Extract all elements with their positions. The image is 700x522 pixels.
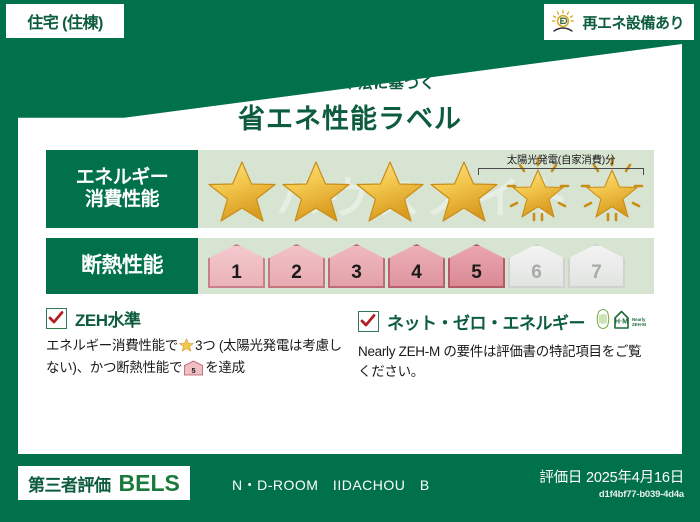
evaluation-date: 評価日 2025年4月16日 — [539, 466, 684, 487]
insulation-grade-badge: 6 — [508, 244, 565, 288]
label-heading: 建築物省エネ法に基づく 省エネ性能ラベル — [34, 72, 666, 136]
note-net-zero-energy: ネット・ゼロ・エネルギー — [358, 306, 654, 383]
insulation-grade-number: 3 — [351, 263, 362, 282]
note-nze-body: Nearly ZEH-M の要件は評価書の特記項目をご覧ください。 — [358, 342, 654, 383]
note-zeh-title: ZEH水準 — [75, 306, 141, 331]
insulation-performance-row: 断熱性能 1 2 3 4 — [46, 238, 654, 294]
energy-performance-label: エネルギー 消費性能 — [46, 150, 198, 228]
insulation-grade-badge: 2 — [268, 244, 325, 288]
label-footer: 第三者評価 BELS N・D-ROOM IIDACHOU B 評価日 2025年… — [0, 454, 700, 522]
insulation-grade-badge: 7 — [568, 244, 625, 288]
star-icon — [206, 154, 278, 224]
insulation-grade-number: 2 — [291, 263, 302, 282]
solar-bonus-annotation: 太陽光発電(自家消費)分 — [478, 152, 644, 175]
note-zeh-body-part1: エネルギー消費性能で — [46, 338, 178, 353]
insulation-grade-badge: 1 — [208, 244, 265, 288]
insulation-grade-scale: 1 2 3 4 5 — [198, 244, 625, 288]
note-zeh-body: エネルギー消費性能で 3つ (太陽光発電は考慮しない)、かつ断熱性能で 5 を達… — [46, 336, 342, 383]
star-icon — [179, 337, 194, 358]
heading-title: 省エネ性能ラベル — [34, 97, 666, 136]
insulation-grade-number: 1 — [231, 263, 242, 282]
solar-sun-icon — [550, 9, 576, 35]
energy-performance-row: エネルギー 消費性能 ハウスメイト 太陽光発電(自家消費)分 — [46, 150, 654, 228]
insulation-grade-number: 5 — [471, 263, 482, 282]
star-icon — [280, 154, 352, 224]
checkbox-checked-icon — [46, 308, 67, 329]
solar-annotation-label: 太陽光発電(自家消費)分 — [478, 152, 644, 167]
insulation-performance-label: 断熱性能 — [46, 238, 198, 294]
svg-text:5: 5 — [192, 366, 196, 375]
renewable-badge-label: 再エネ設備あり — [582, 12, 684, 33]
insulation-grade-badge: 5 — [448, 244, 505, 288]
note-zeh-standard: ZEH水準 エネルギー消費性能で 3つ (太陽光発電は考慮しない)、かつ断熱性能… — [46, 306, 342, 383]
insulation-grade-number: 6 — [531, 263, 542, 282]
label-card: 建築物省エネ法に基づく 省エネ性能ラベル エネルギー 消費性能 ハウスメイト 太… — [18, 44, 682, 454]
bels-chip-jp-label: 第三者評価 — [28, 471, 111, 496]
bels-certification-chip: 第三者評価 BELS — [18, 466, 190, 500]
evaluation-info: 評価日 2025年4月16日 d1f4bf77-b039-4d4a — [539, 466, 684, 500]
insulation-grade-badge: 3 — [328, 244, 385, 288]
insulation-grade-inline-badge: 5 — [184, 360, 203, 382]
insulation-performance-body: 1 2 3 4 5 — [198, 238, 654, 294]
energy-label-line2: 消費性能 — [85, 189, 159, 211]
star-icon — [354, 154, 426, 224]
renewable-energy-badge: 再エネ設備あり — [544, 4, 694, 40]
insulation-label-text: 断熱性能 — [81, 254, 163, 278]
energy-performance-label: 住宅 (住棟) 再エネ設備あり — [0, 0, 700, 522]
building-name: N・D-ROOM IIDACHOU B — [232, 475, 430, 495]
heading-subtitle: 建築物省エネ法に基づく — [34, 72, 666, 93]
insulation-grade-badge: 4 — [388, 244, 445, 288]
bels-chip-en-label: BELS — [119, 470, 180, 497]
energy-label-line1: エネルギー — [76, 167, 169, 189]
svg-text:H·M: H·M — [615, 319, 628, 326]
energy-performance-body: ハウスメイト 太陽光発電(自家消費)分 — [198, 150, 654, 228]
svg-text:ZEH-M: ZEH-M — [632, 322, 646, 327]
note-nze-title: ネット・ゼロ・エネルギー — [387, 309, 585, 334]
notes-section: ZEH水準 エネルギー消費性能で 3つ (太陽光発電は考慮しない)、かつ断熱性能… — [46, 306, 654, 383]
category-chip-label: 住宅 (住棟) — [27, 9, 103, 33]
note-zeh-body-part3: を達成 — [205, 360, 245, 375]
solar-annotation-bracket — [478, 168, 644, 175]
checkbox-checked-icon — [358, 311, 379, 332]
category-chip: 住宅 (住棟) — [6, 4, 124, 38]
nearly-zeh-m-logo-icon: H·M Nearly ZEH-M — [595, 306, 647, 337]
insulation-grade-number: 7 — [591, 263, 602, 282]
evaluation-id: d1f4bf77-b039-4d4a — [539, 489, 684, 500]
insulation-grade-number: 4 — [411, 263, 422, 282]
